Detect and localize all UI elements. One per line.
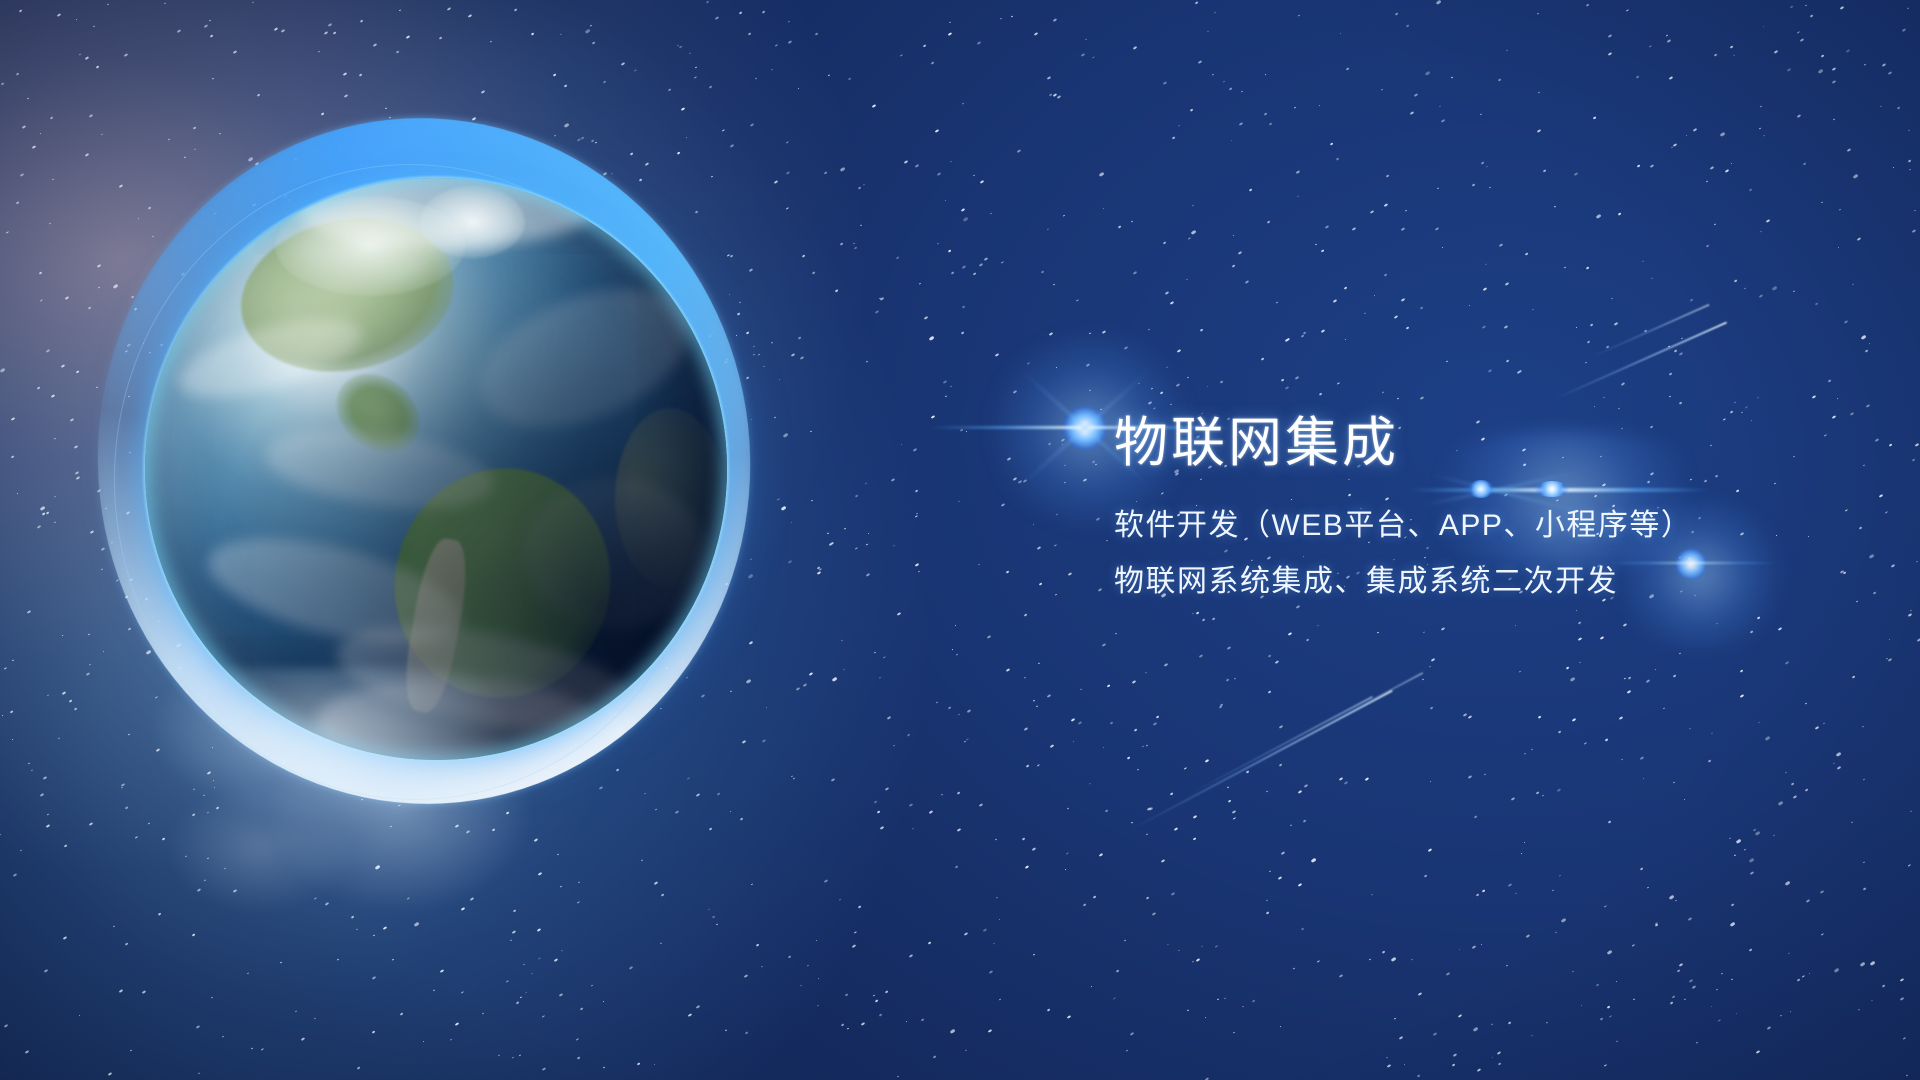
star (1881, 985, 1885, 988)
star (1215, 946, 1218, 949)
hero-subtitle-line-2: 物联网系统集成、集成系统二次开发 (1114, 554, 1854, 610)
star (1394, 1017, 1397, 1019)
star (343, 72, 348, 76)
star (1054, 594, 1057, 596)
star (406, 35, 411, 39)
star (1110, 721, 1114, 724)
star (1064, 465, 1066, 467)
star (819, 568, 822, 571)
star (371, 976, 375, 980)
star (958, 500, 960, 502)
star (1916, 561, 1918, 563)
star (809, 672, 813, 676)
star (1839, 6, 1843, 10)
star (1749, 188, 1752, 191)
star (1744, 288, 1746, 290)
star (947, 32, 952, 36)
star (1089, 783, 1092, 785)
star (1669, 895, 1674, 900)
star (1304, 784, 1308, 788)
star (75, 471, 79, 475)
star (1878, 494, 1882, 498)
star (1785, 772, 1787, 774)
star (1506, 49, 1508, 51)
star (1473, 1027, 1478, 1032)
star (89, 664, 92, 666)
star (901, 444, 903, 446)
star (1011, 16, 1013, 18)
star (69, 418, 73, 422)
star (1162, 241, 1165, 244)
star (791, 353, 795, 357)
star (842, 669, 844, 671)
star (798, 337, 801, 340)
star (1903, 1038, 1906, 1041)
star (1915, 443, 1919, 447)
star (879, 298, 881, 300)
star (16, 73, 20, 76)
star (874, 310, 878, 314)
star (1689, 727, 1692, 729)
star (1345, 339, 1347, 341)
star (1212, 74, 1215, 76)
star (812, 271, 815, 274)
star (47, 695, 49, 697)
star (538, 957, 541, 960)
star (715, 16, 720, 20)
star (86, 672, 91, 676)
star (1227, 786, 1229, 788)
star (944, 396, 946, 398)
star (937, 243, 939, 245)
star (1610, 298, 1612, 300)
star (1856, 601, 1858, 603)
star (979, 803, 984, 807)
star (1668, 346, 1670, 348)
star (1692, 985, 1697, 989)
star (1146, 744, 1148, 746)
star (1026, 765, 1030, 768)
star (208, 19, 210, 21)
star (1239, 122, 1243, 126)
star (1268, 122, 1272, 125)
star (1577, 621, 1580, 624)
star (336, 958, 339, 960)
star (1507, 883, 1512, 887)
star (1518, 671, 1521, 673)
star (1133, 271, 1137, 275)
star (1301, 334, 1305, 337)
star (919, 283, 922, 285)
star (1261, 357, 1265, 360)
star (1646, 887, 1648, 889)
star (356, 928, 358, 930)
star (860, 225, 862, 227)
star (1437, 188, 1439, 190)
star (1439, 105, 1441, 107)
star (1174, 827, 1179, 831)
star (603, 80, 607, 83)
star (1276, 302, 1278, 304)
star (960, 428, 964, 431)
star (62, 936, 66, 940)
star (1532, 308, 1534, 310)
star (1725, 170, 1729, 174)
star (1690, 298, 1694, 301)
star (906, 1021, 908, 1023)
star (1287, 632, 1291, 636)
star (1734, 279, 1737, 282)
star (923, 44, 926, 47)
star (1265, 73, 1267, 75)
star (1537, 715, 1541, 718)
star (807, 964, 809, 966)
star (222, 1035, 225, 1037)
star (1124, 939, 1126, 941)
star (1863, 887, 1866, 890)
star (1756, 1050, 1760, 1054)
star (845, 994, 848, 997)
star (1192, 205, 1194, 207)
star (1802, 975, 1805, 978)
star (1324, 225, 1328, 229)
star (1451, 77, 1453, 79)
star (677, 44, 679, 46)
star (1297, 195, 1299, 197)
star (1422, 679, 1424, 681)
star (1241, 90, 1243, 92)
star (1027, 362, 1030, 365)
star (1846, 49, 1850, 53)
star (948, 21, 950, 23)
star (800, 984, 802, 986)
star (564, 85, 567, 88)
lens-flare-core (1063, 406, 1107, 450)
star (1748, 857, 1753, 862)
star (1892, 166, 1894, 168)
star (994, 353, 998, 357)
star (840, 242, 844, 245)
star (40, 133, 42, 134)
star (1608, 52, 1612, 56)
star (157, 913, 161, 916)
star (142, 990, 147, 994)
star (1459, 949, 1461, 951)
star (1688, 917, 1693, 921)
star (978, 263, 982, 267)
star (12, 739, 14, 741)
star (1166, 367, 1168, 369)
star (800, 356, 804, 360)
star (1146, 834, 1148, 836)
star (660, 943, 662, 945)
star (1295, 376, 1299, 379)
shooting-star (1317, 672, 1424, 730)
star (89, 114, 93, 118)
star (512, 1057, 514, 1059)
star (36, 387, 40, 390)
star (1740, 694, 1745, 698)
star (195, 1025, 199, 1029)
star (1012, 390, 1016, 394)
star (1005, 570, 1009, 573)
star (1586, 3, 1590, 6)
star (961, 265, 966, 269)
star (1900, 997, 1904, 1000)
star (755, 78, 757, 80)
star (1488, 187, 1490, 189)
star (1621, 382, 1626, 386)
star (1373, 295, 1375, 297)
star (1001, 261, 1004, 264)
star (1750, 630, 1753, 633)
star (27, 97, 29, 99)
star (1791, 782, 1795, 785)
star (129, 1050, 131, 1052)
star (1600, 1017, 1604, 1020)
star (1038, 662, 1040, 664)
star (1048, 442, 1051, 445)
star (47, 814, 49, 816)
star (1857, 237, 1862, 241)
star (1066, 853, 1069, 856)
star (1765, 736, 1770, 741)
star (1797, 114, 1802, 118)
star (1483, 287, 1488, 291)
star (891, 478, 895, 482)
star (1089, 333, 1091, 335)
star (1093, 430, 1097, 434)
star (1607, 950, 1612, 955)
star (16, 202, 19, 205)
star (961, 103, 964, 105)
star (936, 702, 938, 704)
star (1706, 245, 1709, 248)
star (1234, 678, 1236, 680)
star (1411, 958, 1413, 960)
star (1766, 219, 1770, 223)
star (1053, 545, 1056, 548)
star (1001, 503, 1005, 507)
star (1480, 943, 1482, 945)
star (957, 791, 961, 794)
star (1861, 335, 1866, 340)
star (1891, 564, 1895, 568)
star (1232, 264, 1236, 267)
star (1468, 715, 1473, 719)
star (1570, 677, 1575, 682)
star (373, 935, 375, 937)
star (177, 29, 182, 33)
star (1344, 781, 1348, 785)
star (17, 493, 19, 494)
star (1191, 230, 1196, 235)
star (952, 649, 954, 651)
star (1176, 383, 1181, 387)
star (1170, 301, 1174, 305)
star (866, 361, 869, 363)
star (1370, 210, 1374, 214)
star (1414, 93, 1419, 97)
star (1875, 438, 1880, 442)
star (1711, 1006, 1713, 1007)
star (1730, 922, 1735, 927)
star (1266, 900, 1268, 902)
star (1896, 107, 1899, 110)
star (1517, 370, 1522, 374)
star (1623, 623, 1627, 627)
star (716, 924, 718, 926)
star (1908, 129, 1910, 131)
star (1773, 835, 1775, 837)
star (1863, 779, 1865, 781)
star (1817, 69, 1822, 74)
star (553, 73, 556, 76)
star (1219, 705, 1222, 708)
star (62, 691, 67, 695)
star (1684, 799, 1686, 801)
star (505, 980, 508, 983)
star (1505, 359, 1509, 362)
star (1124, 347, 1128, 351)
star (1056, 513, 1058, 515)
star (1237, 251, 1241, 255)
star (93, 26, 95, 28)
star (1685, 135, 1687, 137)
star (1267, 654, 1270, 657)
star (1526, 934, 1531, 938)
star (1773, 50, 1777, 54)
star (1037, 546, 1042, 550)
star (1321, 329, 1326, 333)
star (1245, 280, 1250, 284)
star (988, 1029, 992, 1033)
star (1093, 895, 1097, 898)
star (999, 919, 1001, 921)
star (45, 511, 48, 514)
star (1061, 438, 1066, 442)
star (1410, 111, 1415, 115)
star (1346, 67, 1349, 70)
star (1395, 13, 1399, 16)
star (935, 130, 939, 134)
star (1205, 1017, 1207, 1019)
star (44, 969, 48, 972)
hero-subtitle-line-1: 软件开发（WEB平台、APP、小程序等） (1114, 498, 1854, 554)
star (1452, 1063, 1456, 1066)
star (745, 1031, 748, 1034)
star (1269, 871, 1271, 873)
star (943, 380, 947, 384)
star (0, 368, 5, 373)
star (1847, 148, 1852, 152)
star (1195, 958, 1200, 962)
star (1133, 47, 1137, 50)
star (1862, 725, 1865, 727)
star (1316, 960, 1319, 963)
star (281, 29, 285, 33)
star (481, 90, 485, 94)
star (118, 989, 123, 993)
star (840, 639, 842, 641)
star (1017, 149, 1022, 153)
star (1677, 969, 1680, 972)
star (251, 1047, 253, 1049)
star (854, 931, 857, 934)
star (1619, 716, 1624, 720)
star (1492, 1056, 1494, 1058)
star (1663, 708, 1665, 710)
star (1419, 306, 1423, 309)
star (1852, 284, 1854, 286)
star (1381, 392, 1383, 394)
star (1787, 68, 1791, 72)
star (827, 532, 829, 534)
star (1838, 247, 1840, 249)
star (542, 1015, 545, 1018)
star (1127, 756, 1130, 759)
star (1300, 928, 1303, 931)
star (780, 505, 785, 510)
star (990, 212, 992, 214)
star (1828, 379, 1831, 382)
star (1586, 267, 1589, 270)
star (469, 897, 474, 901)
star (788, 21, 791, 23)
star (1792, 291, 1794, 293)
star (531, 32, 534, 35)
star (1078, 721, 1082, 725)
star (1446, 360, 1448, 362)
star (1382, 950, 1386, 953)
star (1678, 352, 1682, 355)
star (1784, 662, 1788, 665)
star (1233, 1032, 1235, 1034)
star (883, 656, 886, 659)
star (977, 563, 979, 565)
star (1910, 610, 1912, 612)
star (1909, 168, 1912, 170)
star (1585, 361, 1587, 363)
star (1498, 78, 1501, 81)
star (1587, 340, 1591, 343)
star (1013, 477, 1018, 481)
star (1310, 858, 1315, 863)
star (1837, 398, 1839, 400)
star (1187, 377, 1189, 379)
star (1745, 406, 1748, 409)
star (1467, 775, 1471, 779)
star (1055, 367, 1057, 369)
star (1910, 811, 1912, 813)
star (1172, 137, 1175, 140)
star (314, 897, 317, 900)
star (1790, 5, 1793, 8)
star (580, 1007, 583, 1010)
star (1716, 989, 1718, 991)
star (863, 184, 866, 186)
star (1340, 32, 1342, 34)
star (1767, 1026, 1772, 1030)
star (39, 271, 43, 274)
star (1076, 299, 1079, 302)
star (1730, 904, 1733, 907)
star (39, 793, 43, 796)
star (1716, 622, 1718, 624)
star (1541, 795, 1543, 797)
star (1530, 748, 1532, 750)
star (1092, 460, 1095, 463)
